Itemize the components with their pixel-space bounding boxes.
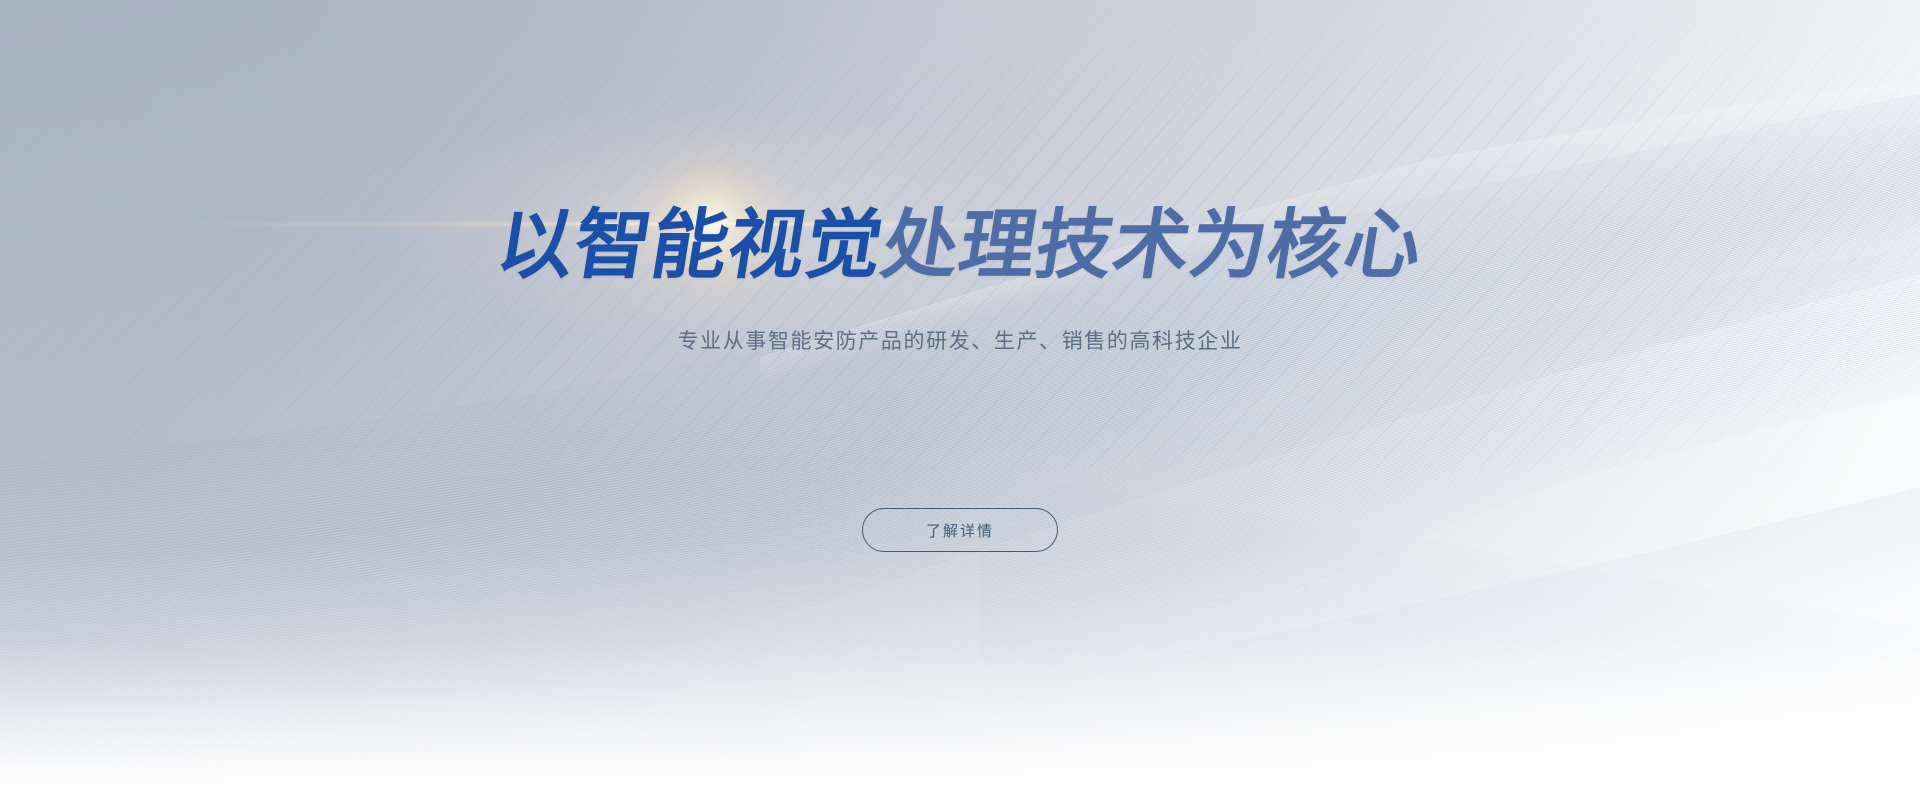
hero-subtitle: 专业从事智能安防产品的研发、生产、销售的高科技企业 [0, 325, 1920, 355]
headline-segment-strong: 以智能视觉 [491, 200, 890, 289]
hero-banner: 以智能视觉处理技术为核心 专业从事智能安防产品的研发、生产、销售的高科技企业 了… [0, 0, 1920, 800]
page-title: 以智能视觉处理技术为核心 [0, 207, 1920, 283]
headline-segment-soft: 处理技术为核心 [876, 200, 1429, 289]
learn-more-button[interactable]: 了解详情 [862, 508, 1058, 552]
hero-content: 以智能视觉处理技术为核心 专业从事智能安防产品的研发、生产、销售的高科技企业 了… [0, 0, 1920, 800]
